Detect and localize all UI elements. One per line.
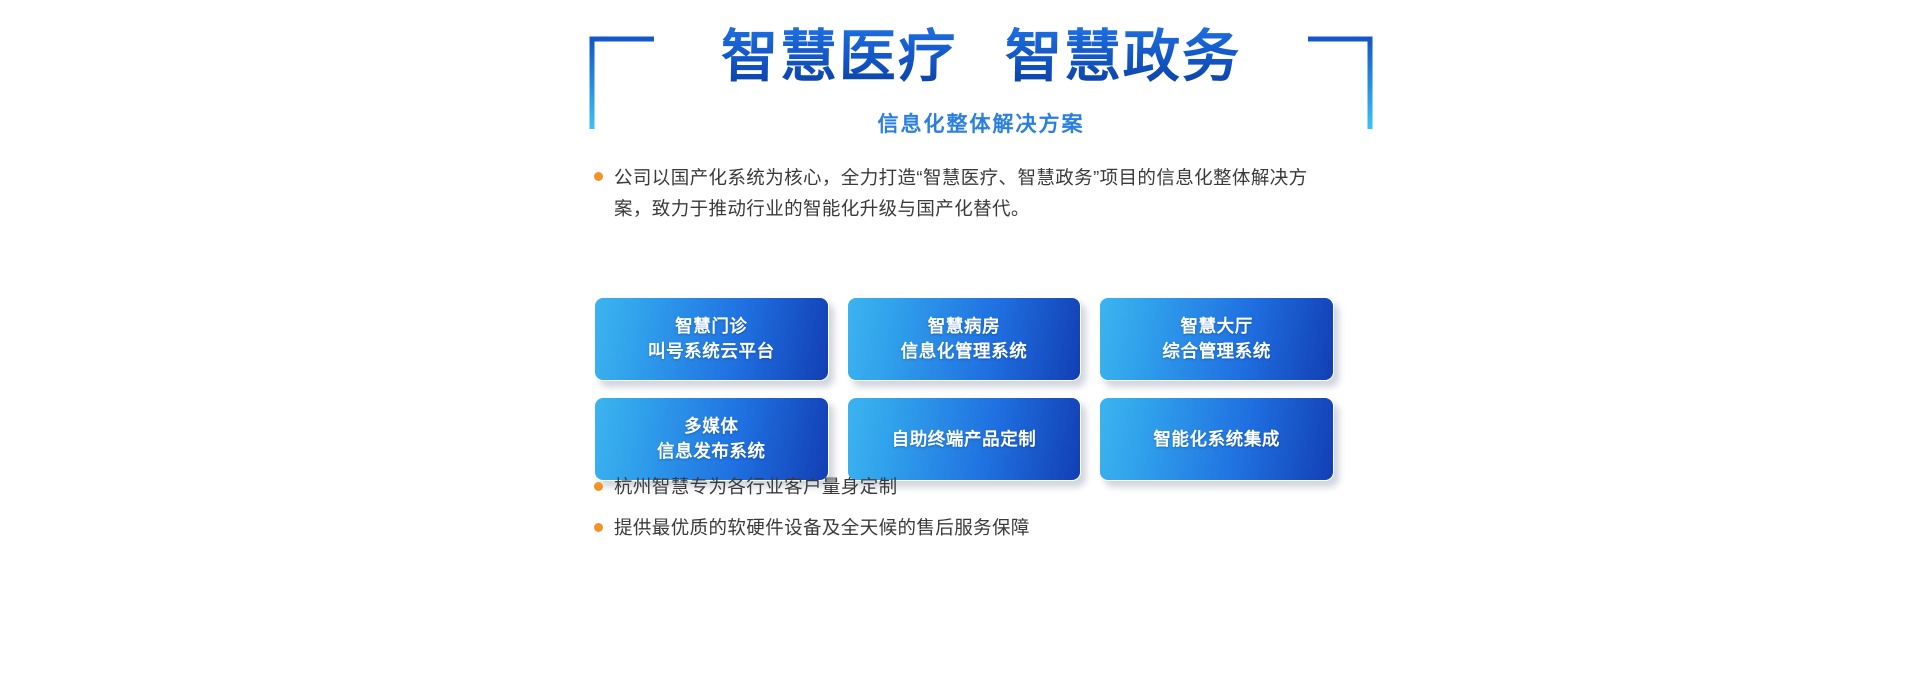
title-left: 智慧医疗 <box>720 26 957 90</box>
title-right: 智慧政务 <box>1005 26 1242 90</box>
promo-banner: 智慧医疗 智慧政务 信息化整体解决方案 公司以国产化系统为核心，全力打造“智慧医… <box>0 0 1920 680</box>
bullet-dot-icon <box>594 172 603 181</box>
card-multimedia-publishing[interactable]: 多媒体 信息发布系统 <box>594 397 829 481</box>
bullet-dot-icon <box>594 482 603 491</box>
card-smart-ward[interactable]: 智慧病房 信息化管理系统 <box>847 297 1082 381</box>
page-subtitle: 信息化整体解决方案 <box>862 108 1101 138</box>
bullet-dot-icon <box>594 523 603 532</box>
header: 智慧医疗 智慧政务 信息化整体解决方案 <box>588 26 1374 144</box>
intro-section: 公司以国产化系统为核心，全力打造“智慧医疗、智慧政务”项目的信息化整体解决方案，… <box>594 162 1334 224</box>
solution-card-grid: 智慧门诊 叫号系统云平台 智慧病房 信息化管理系统 智慧大厅 综合管理系统 多媒… <box>594 297 1334 497</box>
intro-paragraph: 公司以国产化系统为核心，全力打造“智慧医疗、智慧政务”项目的信息化整体解决方案，… <box>614 162 1334 224</box>
footer-highlights: 杭州智慧专为各行业客户量身定制 提供最优质的软硬件设备及全天候的售后服务保障 <box>594 473 1334 555</box>
card-label: 智慧大厅 综合管理系统 <box>1162 314 1271 364</box>
card-smart-clinic[interactable]: 智慧门诊 叫号系统云平台 <box>594 297 829 381</box>
footer-bullet-row: 杭州智慧专为各行业客户量身定制 <box>594 473 1334 500</box>
card-row-1: 智慧门诊 叫号系统云平台 智慧病房 信息化管理系统 智慧大厅 综合管理系统 <box>594 297 1334 381</box>
card-label: 智慧病房 信息化管理系统 <box>901 314 1028 364</box>
intro-bullet-row: 公司以国产化系统为核心，全力打造“智慧医疗、智慧政务”项目的信息化整体解决方案，… <box>594 162 1334 224</box>
card-label: 智能化系统集成 <box>1153 427 1280 452</box>
card-label: 多媒体 信息发布系统 <box>657 414 766 464</box>
footer-item-text: 提供最优质的软硬件设备及全天候的售后服务保障 <box>614 514 1030 541</box>
footer-bullet-row: 提供最优质的软硬件设备及全天候的售后服务保障 <box>594 514 1334 541</box>
page-title: 智慧医疗 智慧政务 <box>588 26 1374 90</box>
card-self-service-terminal[interactable]: 自助终端产品定制 <box>847 397 1082 481</box>
card-label: 自助终端产品定制 <box>892 427 1037 452</box>
card-intelligent-integration[interactable]: 智能化系统集成 <box>1099 397 1334 481</box>
subtitle-wrap: 信息化整体解决方案 <box>588 108 1374 138</box>
card-row-2: 多媒体 信息发布系统 自助终端产品定制 智能化系统集成 <box>594 397 1334 481</box>
card-smart-hall[interactable]: 智慧大厅 综合管理系统 <box>1099 297 1334 381</box>
footer-item-text: 杭州智慧专为各行业客户量身定制 <box>614 473 898 500</box>
card-label: 智慧门诊 叫号系统云平台 <box>648 314 775 364</box>
